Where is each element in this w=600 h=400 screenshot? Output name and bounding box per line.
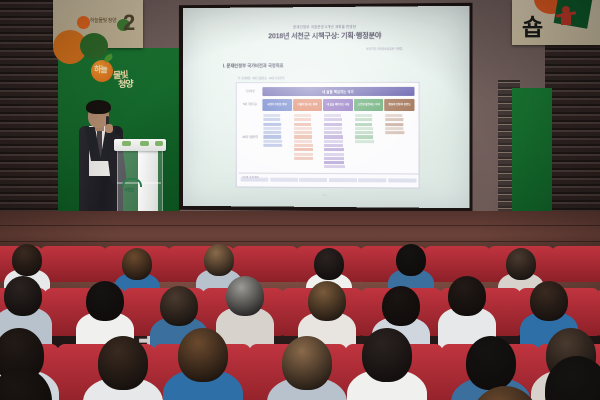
audience-area: [0, 236, 600, 400]
banner-stage-left-line1: 하늘: [94, 64, 107, 75]
audience-member-head: [466, 336, 516, 390]
banner-top-left: 하늘물빛 청양 2: [53, 0, 143, 48]
audience-member-head: [204, 244, 234, 276]
speaker-hand: [105, 124, 113, 133]
podium-logo-arc-icon: [122, 178, 142, 187]
auditorium-seat: [556, 250, 600, 280]
podium-green-accent-1: [122, 141, 131, 146]
logo-dot-orange-icon: [77, 16, 90, 29]
podium-green-accent-3: [155, 141, 163, 146]
auditorium-seat: [428, 250, 486, 280]
speaker-hair: [86, 100, 111, 114]
green-circle-decor-icon: [80, 33, 108, 59]
audience-member-head: [178, 328, 228, 382]
audience-member-head: [506, 248, 536, 280]
back-wall-seam-1: [0, 225, 600, 226]
audience-member-head: [4, 276, 42, 316]
audience-member-head: [382, 286, 420, 326]
auditorium-seat: [44, 250, 102, 280]
banner-top-right-character: 숍: [522, 8, 543, 42]
audience-member-head: [362, 328, 412, 382]
podium-logo: 서천군: [121, 176, 143, 194]
audience-member-head: [530, 281, 568, 321]
podium-logo-text: 서천군: [124, 187, 134, 193]
leaf-icon: [103, 53, 114, 62]
podium-green-accent-2: [140, 141, 149, 146]
projection-screen: 문재인정부 국정운영 5개년 계획을 반영한 2018년 서천군 시책구상: 기…: [183, 6, 470, 208]
banner-top-left-logo-text: 하늘물빛 청양: [90, 17, 116, 24]
audience-member-head: [86, 281, 124, 321]
screen-glare: [183, 6, 470, 208]
photo-scene: 하늘 물빛 청양 하늘물빛 청양 2 숍 문재인정부 국정운영 5개년 계획을 …: [0, 0, 600, 400]
audience-member-head: [282, 336, 332, 390]
audience-member-head: [226, 276, 264, 316]
audience-member-head: [396, 244, 426, 276]
audience-member-head: [314, 248, 344, 280]
banner-top-right: 숍: [512, 0, 600, 45]
figure-body-icon: [561, 13, 571, 25]
audience-member-head: [448, 276, 486, 316]
audience-member-head: [12, 244, 42, 276]
audience-member-head: [160, 286, 198, 326]
banner-top-left-number: 2: [123, 10, 135, 36]
banner-stage-left-line3: 청양: [118, 77, 133, 91]
audience-member-head: [122, 248, 152, 280]
audience-member-head: [308, 281, 346, 321]
audience-member-head: [98, 336, 148, 390]
